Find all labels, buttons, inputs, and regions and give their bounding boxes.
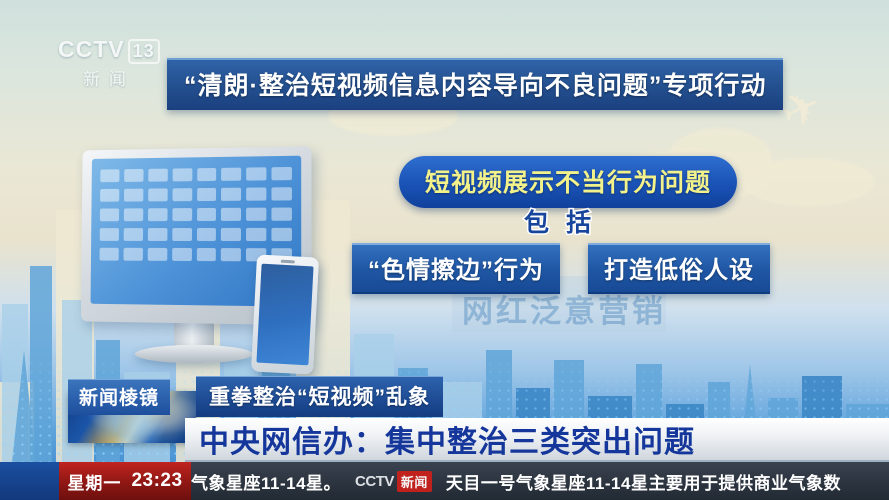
story-subtitle-tag: 重拳整治“短视频”乱象 (196, 376, 443, 417)
app-tile (221, 208, 241, 221)
app-tile (148, 208, 167, 221)
topic-pill: 短视频展示不当行为问题 (399, 156, 737, 208)
app-tile (100, 228, 119, 241)
monitor-base (135, 345, 253, 363)
app-tile (172, 188, 192, 201)
app-tile (148, 188, 167, 201)
sub-item-label-2: 打造低俗人设 (604, 257, 754, 284)
channel-number: 13 (128, 39, 160, 64)
channel-name: 新闻 (58, 65, 160, 90)
app-tile (147, 248, 166, 261)
app-tile (172, 208, 192, 221)
app-tile (221, 188, 241, 201)
app-tile (272, 187, 292, 200)
program-tag: 新闻棱镜 (68, 379, 170, 415)
connector-label: 包 括 (524, 203, 596, 239)
tablet-graphic (251, 254, 319, 374)
headline-bar: 中央网信办：集中整治三类突出问题 (185, 418, 889, 462)
ticker-left-cap (0, 462, 59, 500)
broadcast-screen: ✈ CCTV13 新闻 (0, 0, 889, 500)
app-tile (124, 228, 143, 241)
app-tile (221, 168, 241, 181)
app-tile (196, 228, 216, 241)
app-tile (272, 228, 292, 241)
ticker-logo-news: 新闻 (397, 471, 432, 492)
app-tile (100, 169, 119, 182)
app-tile (100, 248, 119, 261)
ticker-content: 气象星座11-14星。 CCTV 新闻 天目一号气象星座11-14星主要用于提供… (191, 469, 841, 494)
cctv-logo-text: CCTV (58, 36, 125, 62)
tablet-camera-icon (281, 260, 295, 264)
app-tile (246, 228, 266, 241)
app-tile (221, 228, 241, 241)
app-tile (124, 189, 143, 202)
story-subtitle-label: 重拳整治“短视频”乱象 (209, 386, 430, 409)
app-tile (148, 228, 167, 241)
sub-item-box-1: “色情擦边”行为 (352, 243, 560, 294)
clock-time: 23:23 (131, 470, 182, 492)
app-tile (197, 168, 217, 181)
clock-box: 星期一 23:23 (59, 462, 191, 500)
app-tile (100, 208, 119, 221)
ticker-logo-cctv: CCTV (355, 473, 394, 490)
clock-weekday: 星期一 (67, 469, 121, 494)
app-tile (172, 248, 192, 261)
app-tile (272, 208, 292, 221)
program-tag-label: 新闻棱镜 (79, 388, 159, 409)
ticker-segment-2: 天目一号气象星座11-14星主要用于提供商业气象数 (446, 469, 841, 494)
headline-text: 中央网信办：集中整治三类突出问题 (199, 417, 695, 461)
app-tile (221, 248, 241, 261)
app-tile (124, 208, 143, 221)
app-tile (246, 187, 266, 200)
topic-pill-label: 短视频展示不当行为问题 (425, 169, 711, 197)
channel-logo: CCTV13 新闻 (58, 36, 160, 90)
app-tile (246, 208, 266, 221)
sub-item-label-1: “色情擦边”行为 (368, 257, 544, 284)
app-tile (197, 188, 217, 201)
campaign-banner: “清朗·整治短视频信息内容导向不良问题”专项行动 (167, 58, 783, 110)
tablet-screen (256, 264, 313, 366)
app-tile (123, 248, 142, 261)
app-tile (148, 169, 167, 182)
app-tile (124, 169, 143, 182)
ticker-segment-1: 气象星座11-14星。 (191, 469, 341, 494)
app-tile (172, 228, 192, 241)
app-tile (172, 168, 192, 181)
ticker-cctv-news-logo: CCTV 新闻 (355, 471, 432, 492)
sub-item-box-2: 打造低俗人设 (588, 243, 770, 294)
app-tile (196, 248, 216, 261)
campaign-banner-title: “清朗·整治短视频信息内容导向不良问题”专项行动 (184, 72, 766, 100)
app-tile (272, 167, 292, 180)
app-tile (246, 167, 266, 180)
app-tile (100, 189, 119, 202)
app-tile (197, 208, 217, 221)
